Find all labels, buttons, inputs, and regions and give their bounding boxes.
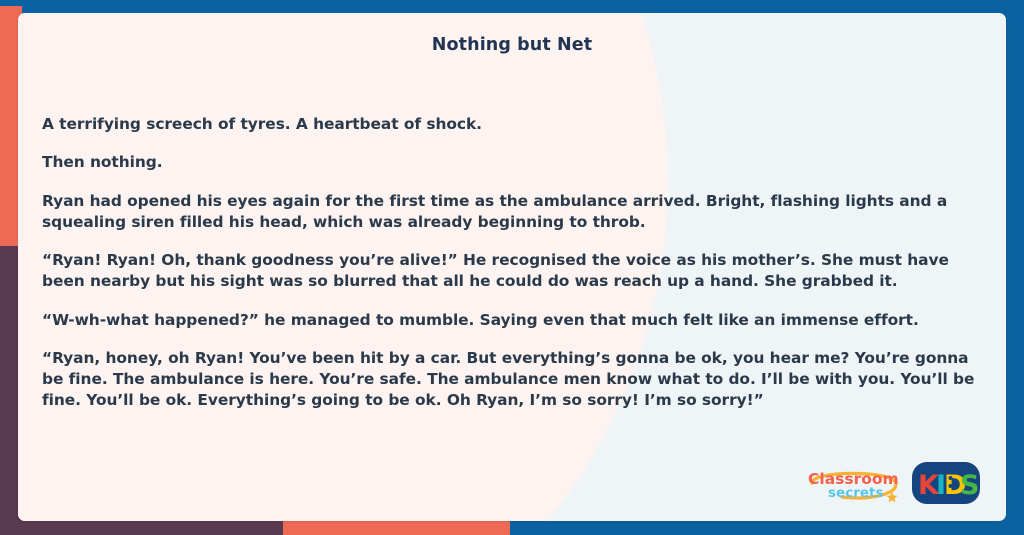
- card-inner: Nothing but Net A terrifying screech of …: [18, 13, 1006, 521]
- branding-group: Classroom secrets K I D S: [806, 461, 980, 509]
- smiley-eye-icon: [949, 484, 953, 488]
- worksheet-poster: Nothing but Net A terrifying screech of …: [0, 0, 1024, 535]
- passage-paragraph: Then nothing.: [42, 152, 982, 173]
- reading-passage: A terrifying screech of tyres. A heartbe…: [42, 114, 982, 412]
- passage-paragraph: A terrifying screech of tyres. A heartbe…: [42, 114, 982, 135]
- passage-paragraph: Ryan had opened his eyes again for the f…: [42, 191, 982, 234]
- kids-badge: K I D S: [912, 461, 980, 509]
- smiley-eye-icon: [949, 476, 953, 480]
- content-card: Nothing but Net A terrifying screech of …: [18, 13, 1006, 521]
- passage-paragraph: “Ryan! Ryan! Oh, thank goodness you’re a…: [42, 250, 982, 293]
- secrets-wordmark: secrets: [828, 485, 884, 501]
- page-title: Nothing but Net: [42, 35, 982, 56]
- passage-paragraph: “W-wh-what happened?” he managed to mumb…: [42, 310, 982, 331]
- classroom-secrets-logo: Classroom secrets: [806, 465, 902, 505]
- kids-letter-s: S: [960, 470, 979, 501]
- passage-paragraph: “Ryan, honey, oh Ryan! You’ve been hit b…: [42, 348, 982, 412]
